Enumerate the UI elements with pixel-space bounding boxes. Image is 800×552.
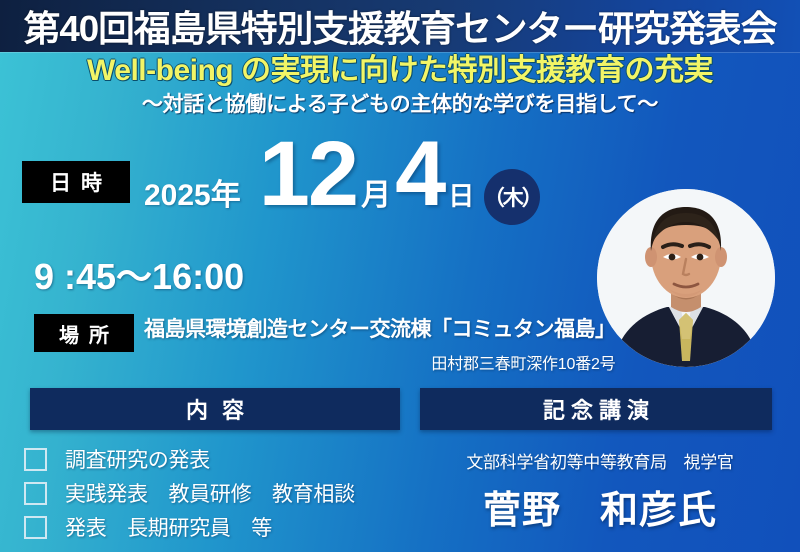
weekday-badge: （木） bbox=[484, 169, 540, 225]
list-item: 調査研究の発表 bbox=[24, 444, 355, 474]
event-poster: 第40回福島県特別支援教育センター研究発表会 Well-being の実現に向け… bbox=[0, 0, 800, 552]
date-month-number: 12 bbox=[259, 134, 357, 215]
time-range: 9 :45〜16:00 bbox=[34, 248, 244, 300]
lecturer-block: 文部科学省初等中等教育局 視学官 菅野 和彦氏 bbox=[420, 448, 780, 534]
date-month-unit: 月 bbox=[361, 181, 391, 211]
venue-label-tag: 場所 bbox=[34, 314, 134, 352]
list-item-label: 発表 長期研究員 等 bbox=[65, 512, 272, 542]
checkbox-icon bbox=[24, 482, 47, 505]
subtitle-main: Well-being の実現に向けた特別支援教育の充実 bbox=[0, 52, 800, 90]
venue-texts: 福島県環境創造センター交流棟「コミュタン福島」 田村郡三春町深作10番2号 bbox=[144, 314, 616, 374]
date-day-number: 4 bbox=[395, 134, 444, 215]
date-day-unit: 日 bbox=[448, 183, 474, 209]
subtitle-secondary: 〜対話と協働による子どもの主体的な学びを目指して〜 bbox=[0, 91, 800, 119]
date-values: 2025年 12 月 4 日 （木） bbox=[144, 134, 540, 227]
checkbox-icon bbox=[24, 516, 47, 539]
subtitle-block: Well-being の実現に向けた特別支援教育の充実 〜対話と協働による子ども… bbox=[0, 52, 800, 119]
venue-block: 場所 福島県環境創造センター交流棟「コミュタン福島」 田村郡三春町深作10番2号 bbox=[34, 314, 616, 374]
venue-address: 田村郡三春町深作10番2号 bbox=[144, 350, 616, 374]
content-list: 調査研究の発表 実践発表 教員研修 教育相談 発表 長期研究員 等 bbox=[24, 444, 355, 546]
list-item: 実践発表 教員研修 教育相談 bbox=[24, 478, 355, 508]
list-item: 発表 長期研究員 等 bbox=[24, 512, 355, 542]
lecturer-affiliation: 文部科学省初等中等教育局 視学官 bbox=[420, 448, 780, 473]
poster-title-bar: 第40回福島県特別支援教育センター研究発表会 bbox=[0, 0, 800, 52]
page-title: 第40回福島県特別支援教育センター研究発表会 bbox=[24, 0, 777, 52]
datetime-block: 日時 2025年 12 月 4 日 （木） bbox=[22, 134, 540, 227]
datetime-label-tag: 日時 bbox=[22, 161, 130, 203]
lecturer-name: 菅野 和彦氏 bbox=[420, 479, 780, 534]
checkbox-icon bbox=[24, 448, 47, 471]
date-year: 2025年 bbox=[144, 181, 241, 211]
avatar bbox=[597, 189, 775, 367]
list-item-label: 調査研究の発表 bbox=[65, 444, 210, 474]
venue-name: 福島県環境創造センター交流棟「コミュタン福島」 bbox=[144, 314, 616, 346]
section-header-content: 内容 bbox=[30, 388, 400, 430]
portrait-photo-icon bbox=[597, 189, 775, 367]
list-item-label: 実践発表 教員研修 教育相談 bbox=[65, 478, 355, 508]
section-header-lecture: 記念講演 bbox=[420, 388, 772, 430]
